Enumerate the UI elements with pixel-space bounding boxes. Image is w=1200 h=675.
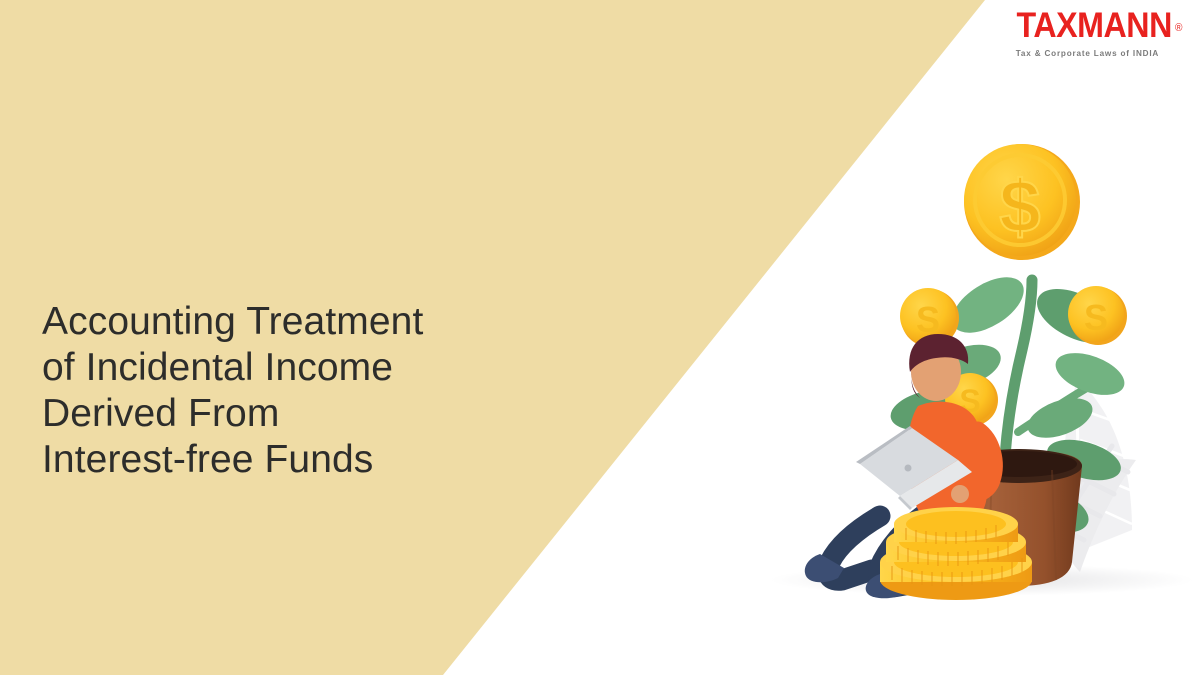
coin-stack-icon: [880, 507, 1032, 600]
money-plant-illustration: $ S S S: [760, 110, 1200, 620]
svg-text:$: $: [999, 165, 1040, 248]
svg-text:S: S: [916, 299, 940, 340]
logo-tagline: Tax & Corporate Laws of INDIA: [1006, 48, 1170, 58]
article-banner: Accounting Treatment of Incidental Incom…: [0, 0, 1200, 675]
svg-text:S: S: [1084, 297, 1108, 338]
taxmann-logo[interactable]: TAXMANN ® Tax & Corporate Laws of INDIA: [1003, 8, 1172, 58]
page-title: Accounting Treatment of Incidental Incom…: [42, 299, 562, 483]
logo-wordmark: TAXMANN ®: [1017, 8, 1172, 44]
logo-wordmark-text: TAXMANN: [1017, 6, 1172, 45]
big-dollar-coin-icon: $: [964, 144, 1080, 260]
registered-trademark-icon: ®: [1175, 10, 1182, 46]
